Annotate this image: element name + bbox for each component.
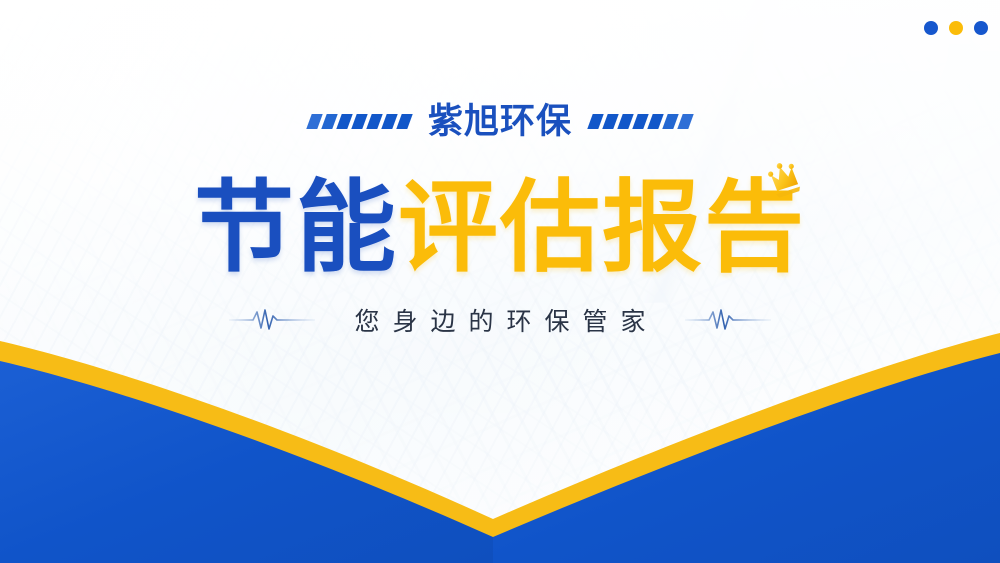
dot-blue-1 [924, 21, 938, 35]
dot-yellow [949, 21, 963, 35]
title-block: 节能评估报告 [0, 178, 1000, 278]
wave-blue-right [493, 353, 1000, 563]
slash-bars-icon-right [590, 114, 691, 130]
wave-blue-left [0, 361, 493, 563]
dot-blue-2 [974, 21, 988, 35]
crown-icon [768, 160, 808, 198]
title-gold-part: 评估报告 [398, 172, 806, 284]
brand-name: 紫旭环保 [428, 104, 572, 139]
slide-canvas: 紫旭环保 节能评估报告 [0, 0, 1000, 563]
brand-line: 紫旭环保 [0, 104, 1000, 139]
slash-bars-icon-left [309, 114, 410, 130]
decor-dots-group [924, 21, 988, 35]
page-title: 节能评估报告 [194, 178, 806, 278]
bottom-wave-decoration [0, 323, 1000, 563]
title-blue-part: 节能 [194, 172, 398, 284]
